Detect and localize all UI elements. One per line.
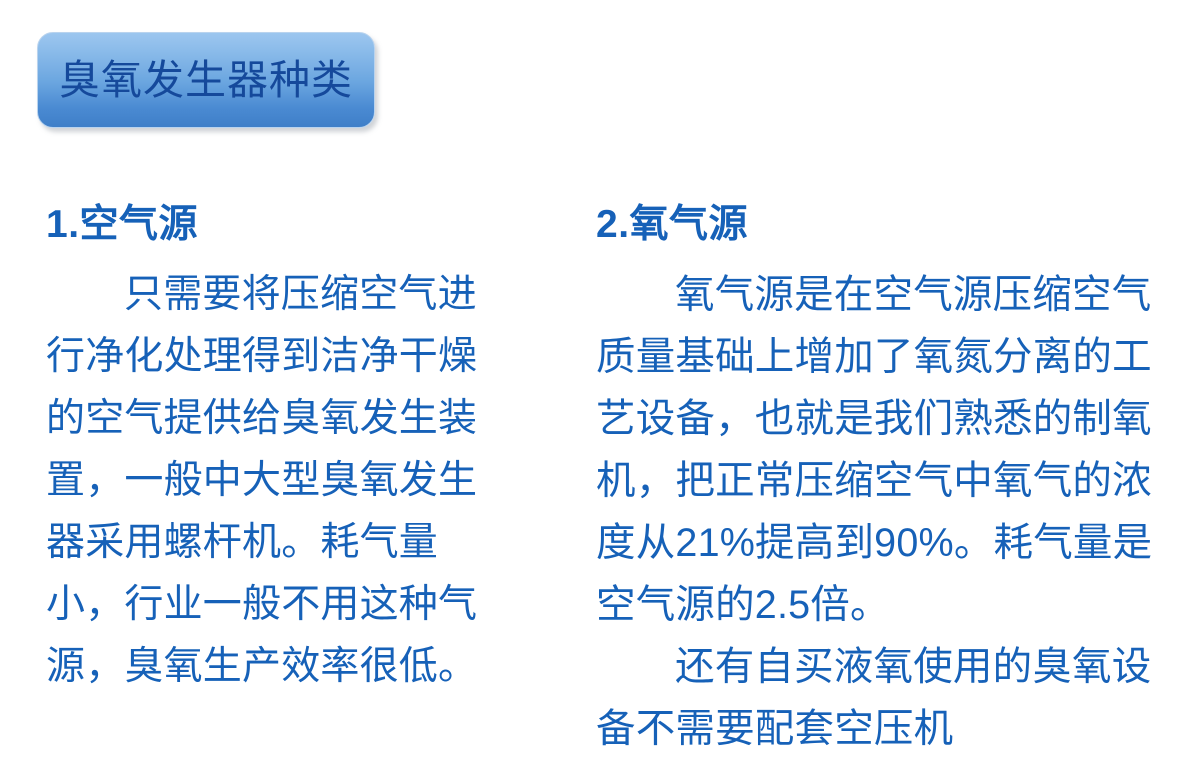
column-right-paragraph-1: 氧气源是在空气源压缩空气质量基础上增加了氧氮分离的工艺设备，也就是我们熟悉的制氧… [596,264,1168,636]
column-left-heading: 1.空气源 [46,200,506,250]
column-right-heading: 2.氧气源 [596,200,1168,250]
column-left-paragraph-1: 只需要将压缩空气进行净化处理得到洁净干燥的空气提供给臭氧发生装置，一般中大型臭氧… [46,264,506,698]
slide-canvas: 臭氧发生器种类 1.空气源 只需要将压缩空气进行净化处理得到洁净干燥的空气提供给… [0,0,1200,745]
column-oxygen-source: 2.氧气源 氧气源是在空气源压缩空气质量基础上增加了氧氮分离的工艺设备，也就是我… [596,200,1168,760]
content-columns: 1.空气源 只需要将压缩空气进行净化处理得到洁净干燥的空气提供给臭氧发生装置，一… [0,200,1200,745]
column-right-paragraph-2: 还有自买液氧使用的臭氧设备不需要配套空压机 [596,636,1168,760]
title-badge-label: 臭氧发生器种类 [59,60,353,101]
title-badge: 臭氧发生器种类 [37,32,375,128]
column-air-source: 1.空气源 只需要将压缩空气进行净化处理得到洁净干燥的空气提供给臭氧发生装置，一… [46,200,506,698]
